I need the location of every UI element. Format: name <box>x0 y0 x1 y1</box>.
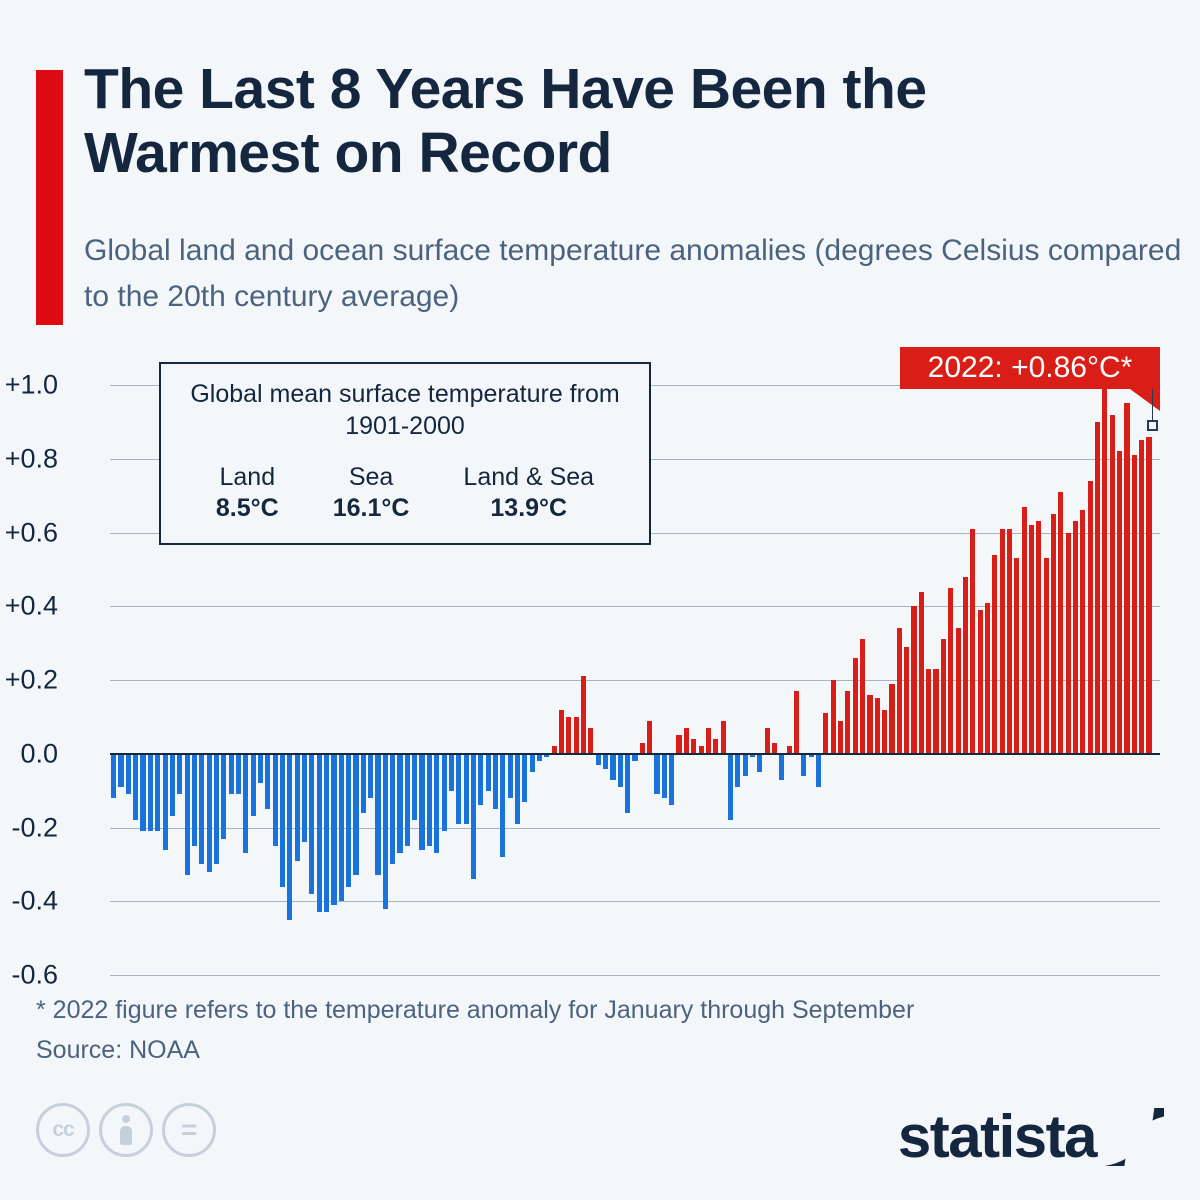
bar <box>779 754 784 780</box>
bar <box>1066 533 1071 754</box>
bar <box>956 628 961 753</box>
legend-column-land: Land 8.5°C <box>216 462 279 525</box>
bar <box>515 754 520 824</box>
callout-label: 2022: +0.86°C* <box>928 351 1133 385</box>
bar <box>860 639 865 753</box>
bar <box>963 577 968 754</box>
bar <box>390 754 395 865</box>
bar <box>853 658 858 754</box>
bar <box>229 754 234 795</box>
bar <box>1124 403 1129 753</box>
bar <box>559 710 564 754</box>
y-axis-tick-label: +0.2 <box>5 665 58 696</box>
bar <box>691 739 696 754</box>
creative-commons-icons: cc = <box>36 1103 216 1157</box>
notes-block: * 2022 figure refers to the temperature … <box>36 990 1176 1070</box>
bar <box>992 555 997 754</box>
bar <box>823 713 828 754</box>
legend-label-sea: Sea <box>333 462 410 493</box>
bar <box>794 691 799 754</box>
zero-baseline <box>110 753 1160 755</box>
y-axis-tick-label: +0.4 <box>5 591 58 622</box>
bar <box>647 721 652 754</box>
bar <box>456 754 461 824</box>
y-axis-tick-label: -0.4 <box>11 886 58 917</box>
bar <box>478 754 483 806</box>
bar <box>654 754 659 795</box>
bar <box>632 754 637 761</box>
bar <box>941 639 946 753</box>
bar <box>148 754 153 831</box>
bar <box>676 735 681 753</box>
bar <box>970 529 975 754</box>
bar <box>610 754 615 780</box>
bar <box>978 610 983 754</box>
bar <box>111 754 116 798</box>
page-subtitle: Global land and ocean surface temperatur… <box>84 228 1184 319</box>
bar <box>192 754 197 846</box>
bar <box>618 754 623 787</box>
bar <box>838 721 843 754</box>
bar <box>221 754 226 839</box>
bar <box>251 754 256 817</box>
legend-column-sea: Sea 16.1°C <box>333 462 410 525</box>
y-axis-tick-label: +0.6 <box>5 517 58 548</box>
bar <box>383 754 388 909</box>
bar <box>207 754 212 872</box>
bar <box>801 754 806 776</box>
bar <box>1036 521 1041 753</box>
y-axis-tick-label: +1.0 <box>5 370 58 401</box>
accent-bar <box>36 70 63 325</box>
bar <box>1051 514 1056 754</box>
bar <box>735 754 740 787</box>
bar <box>684 728 689 754</box>
gridline <box>110 975 1160 976</box>
bar <box>1088 481 1093 754</box>
bar <box>309 754 314 894</box>
legend-value-land-and-sea: 13.9°C <box>463 493 594 524</box>
y-axis-tick-label: -0.6 <box>11 960 58 991</box>
bar <box>133 754 138 820</box>
no-derivatives-equals-icon: = <box>162 1103 216 1157</box>
bar <box>324 754 329 913</box>
bar <box>522 754 527 802</box>
bar <box>185 754 190 876</box>
bar <box>985 603 990 754</box>
legend-value-land: 8.5°C <box>216 493 279 524</box>
header: The Last 8 Years Have Been the Warmest o… <box>0 0 1200 335</box>
bar <box>1095 422 1100 754</box>
bar <box>449 754 454 791</box>
bar <box>816 754 821 787</box>
bar <box>603 754 608 769</box>
bar <box>926 669 931 754</box>
y-axis-tick-label: 0.0 <box>20 738 58 769</box>
legend-column-land-and-sea: Land & Sea 13.9°C <box>463 462 594 525</box>
statista-logo[interactable]: statista <box>898 1107 1164 1167</box>
bar <box>1146 437 1151 754</box>
bar <box>574 717 579 754</box>
bar <box>464 754 469 824</box>
bar <box>1058 492 1063 754</box>
bar <box>831 680 836 754</box>
bar <box>596 754 601 765</box>
bar <box>236 754 241 795</box>
bar <box>897 628 902 753</box>
y-axis-tick-label: -0.2 <box>11 812 58 843</box>
bar <box>353 754 358 876</box>
bar <box>375 754 380 876</box>
bar <box>1073 521 1078 753</box>
legend-title: Global mean surface temperature from 190… <box>161 378 649 442</box>
legend-box: Global mean surface temperature from 190… <box>159 362 651 545</box>
y-axis-tick-label: +0.8 <box>5 443 58 474</box>
bar <box>273 754 278 846</box>
legend-value-sea: 16.1°C <box>333 493 410 524</box>
bar <box>706 728 711 754</box>
bar <box>1080 510 1085 753</box>
bar <box>948 588 953 754</box>
source-text: Source: NOAA <box>36 1030 1176 1070</box>
bar <box>427 754 432 846</box>
bar <box>508 754 513 798</box>
callout-box: 2022: +0.86°C* <box>900 347 1160 389</box>
bar <box>845 691 850 754</box>
bar <box>317 754 322 913</box>
bar <box>919 592 924 754</box>
bar <box>566 717 571 754</box>
bar <box>486 754 491 791</box>
cc-icon: cc <box>36 1103 90 1157</box>
bar <box>280 754 285 887</box>
bar <box>1110 415 1115 754</box>
bar <box>1000 529 1005 754</box>
bar <box>1132 455 1137 754</box>
bar <box>1022 507 1027 754</box>
bar <box>1139 440 1144 753</box>
bar <box>904 647 909 754</box>
bar <box>434 754 439 854</box>
page-title: The Last 8 Years Have Been the Warmest o… <box>84 58 1174 186</box>
attribution-person-icon <box>99 1103 153 1157</box>
bar <box>419 754 424 850</box>
bar <box>875 698 880 753</box>
bar <box>625 754 630 813</box>
gridline <box>110 901 1160 902</box>
bar <box>361 754 366 813</box>
bar <box>163 754 168 850</box>
person-head <box>122 1115 130 1123</box>
bar <box>911 606 916 754</box>
bar <box>412 754 417 820</box>
bar <box>721 721 726 754</box>
bar <box>500 754 505 857</box>
bar <box>258 754 263 784</box>
bar <box>728 754 733 820</box>
legend-columns: Land 8.5°C Sea 16.1°C Land & Sea 13.9°C <box>161 462 649 525</box>
gridline <box>110 828 1160 829</box>
footer: cc = statista <box>0 1095 1200 1200</box>
bar <box>265 754 270 809</box>
bar <box>442 754 447 831</box>
bar <box>140 754 145 831</box>
bar <box>1102 389 1107 754</box>
bar <box>757 754 762 772</box>
bar <box>118 754 123 787</box>
footnote-text: * 2022 figure refers to the temperature … <box>36 990 1176 1030</box>
bar <box>405 754 410 846</box>
person-glyph <box>118 1115 134 1145</box>
bar <box>933 669 938 754</box>
bar <box>889 684 894 754</box>
bar <box>287 754 292 920</box>
bar <box>346 754 351 887</box>
bar <box>530 754 535 772</box>
statista-mark-icon <box>1106 1108 1164 1166</box>
bar <box>155 754 160 831</box>
bar <box>177 754 182 795</box>
bar <box>243 754 248 854</box>
bar <box>170 754 175 817</box>
bar <box>1044 558 1049 753</box>
bar <box>471 754 476 879</box>
bar <box>713 739 718 754</box>
bar <box>302 754 307 843</box>
statista-wordmark: statista <box>898 1107 1096 1167</box>
bar <box>588 728 593 754</box>
bar <box>581 676 586 753</box>
bar <box>1117 451 1122 753</box>
bar <box>743 754 748 776</box>
bar <box>295 754 300 861</box>
bar <box>867 695 872 754</box>
bar <box>662 754 667 798</box>
bar <box>765 728 770 754</box>
person-body <box>120 1126 132 1145</box>
bar <box>214 754 219 865</box>
bar <box>1014 558 1019 753</box>
bar <box>126 754 131 795</box>
bar <box>537 754 542 761</box>
legend-label-land-and-sea: Land & Sea <box>463 462 594 493</box>
bar <box>199 754 204 865</box>
bar <box>669 754 674 806</box>
bar <box>397 754 402 854</box>
bar <box>882 710 887 754</box>
legend-label-land: Land <box>216 462 279 493</box>
bar <box>339 754 344 902</box>
bar <box>331 754 336 905</box>
bar <box>368 754 373 798</box>
bar <box>493 754 498 809</box>
bar <box>1029 525 1034 754</box>
bar <box>1007 529 1012 754</box>
